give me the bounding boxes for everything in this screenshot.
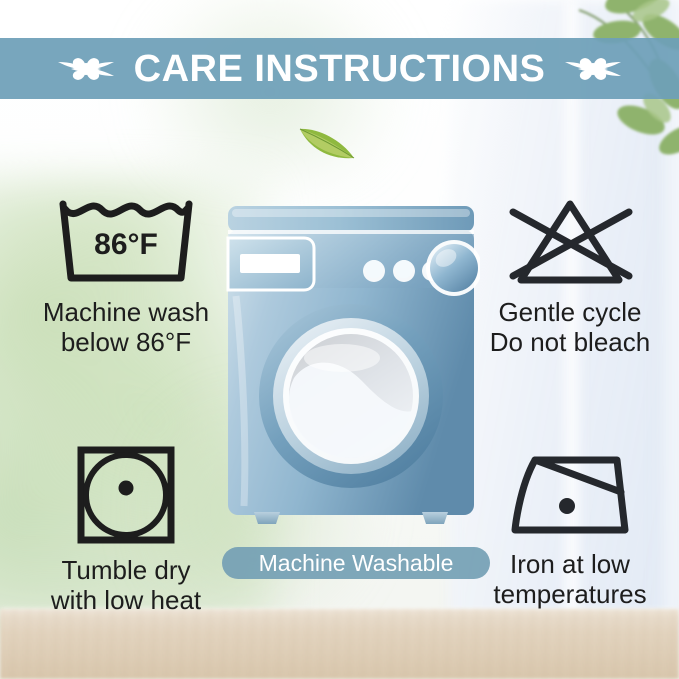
care-symbol-caption: Tumble dry with low heat [51, 556, 201, 615]
wash-temperature-value: 86°F [94, 228, 158, 261]
care-symbol-caption: Iron at low temperatures [493, 550, 646, 609]
care-symbol-gentle-cycle-no-bleach: Gentle cycle Do not bleach [462, 196, 678, 357]
care-symbol-iron-low: Iron at low temperatures [462, 444, 678, 609]
front-load-washing-machine-illustration [222, 206, 480, 526]
page-title: CARE INSTRUCTIONS [134, 50, 546, 88]
wash-tub-icon: 86°F [51, 196, 201, 288]
wood-grain-texture [0, 609, 679, 679]
care-symbol-caption: Machine wash below 86°F [43, 298, 209, 357]
care-instructions-infographic: CARE INSTRUCTIONS 86°F Machine wa [0, 0, 679, 679]
care-symbol-tumble-dry-low: Tumble dry with low heat [18, 444, 234, 615]
iron-low-temperature-icon [505, 444, 635, 540]
fleur-de-lis-icon [563, 48, 623, 90]
care-symbol-machine-wash: 86°F Machine wash below 86°F [18, 196, 234, 357]
status-badge: Machine Washable [222, 547, 490, 579]
status-badge-label: Machine Washable [259, 552, 454, 575]
header-banner: CARE INSTRUCTIONS [0, 38, 679, 99]
machine-foot [254, 512, 280, 524]
fleur-de-lis-icon [56, 48, 116, 90]
tumble-dry-low-heat-icon [75, 444, 177, 546]
machine-foot [422, 512, 448, 524]
triangle-crossed-out-icon [495, 196, 645, 288]
green-leaf-icon [296, 120, 358, 162]
care-symbol-caption: Gentle cycle Do not bleach [490, 298, 650, 357]
